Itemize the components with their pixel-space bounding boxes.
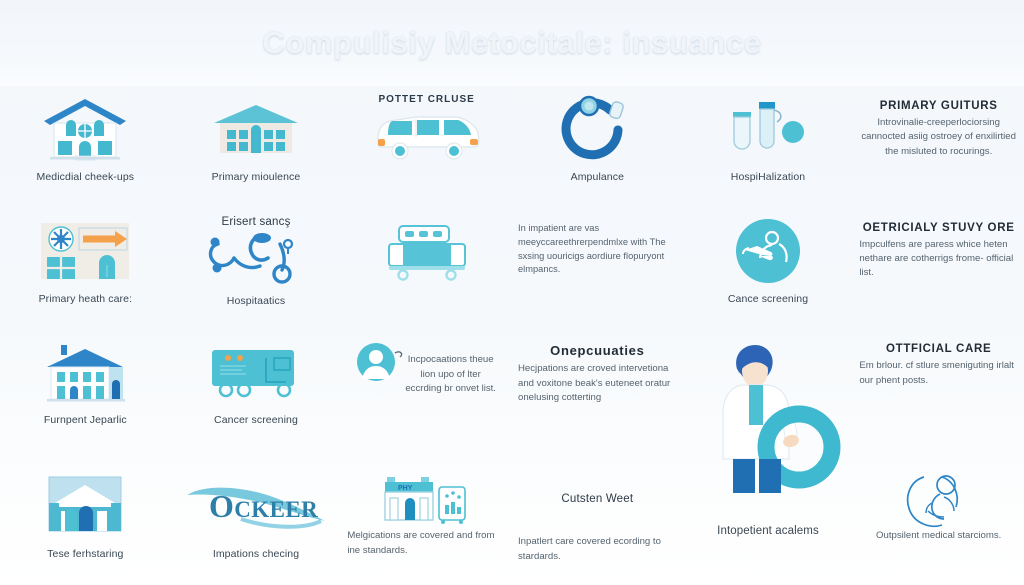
cell-body: Outpsilent medical starcioms. (876, 529, 1001, 543)
cell-body: Hecjpations are croved intervetiona and … (518, 362, 677, 405)
page-banner: Compulisiy Metocitale: insuance (0, 0, 1024, 86)
doctor-with-ring-icon (689, 337, 848, 453)
pharmacy-chart-icon: PHY (347, 471, 506, 527)
cell-caption: Cance screening (728, 292, 808, 306)
bank-building-icon (6, 471, 165, 541)
cell-body: Impculfens are paress whice heten nethar… (859, 238, 1018, 281)
cell-caption: Tese ferhstaring (47, 547, 123, 561)
cell-caption: Intopetient acalems (717, 523, 819, 539)
grid-cell-tese-ferhstaring[interactable]: Tese ferhstaring (0, 463, 171, 585)
svg-text:OCKEER: OCKEER (209, 488, 318, 524)
cell-caption: Primary mioulence (212, 170, 301, 184)
grid-cell-hospital-bed[interactable] (341, 208, 512, 330)
grid-cell-primary-guiturs: PRIMARY GUITURS Introvinalie-creeperloci… (853, 86, 1024, 208)
cell-heading: PRIMARY GUITURS (880, 100, 998, 112)
cell-caption: HospiHalization (731, 170, 805, 184)
cell-heading: Onepcuuaties (550, 343, 644, 358)
grid-cell-cancer-screening-truck[interactable]: Cancer screening (171, 329, 342, 463)
ambulance-van-icon (347, 103, 506, 163)
cell-body: Em brlour. cf stlure smeniguting irlalt … (859, 359, 1018, 388)
hospital-bed-icon (347, 216, 506, 286)
test-tubes-icon (689, 94, 848, 164)
mobile-clinic-truck-icon (177, 337, 336, 407)
svg-text:PHY: PHY (398, 485, 413, 492)
cell-caption: Cancer screening (214, 413, 298, 427)
stethoscope-icon (177, 230, 336, 288)
cell-body: Incpocaations theue lion upo of lter ecc… (403, 341, 499, 396)
grid-cell-pottet-crluse[interactable]: POTTET CRLUSE (341, 86, 512, 208)
cell-caption: Furnpent Jeparlic (44, 413, 127, 427)
icon-grid: Medicdial cheek-ups Primary mi (0, 86, 1024, 585)
grid-cell-oetricialy-stuvy-ore: OETRICIALY STUVY ORE Impculfens are pare… (853, 208, 1024, 330)
cell-caption: Impations checing (213, 547, 299, 561)
hospital-building-icon (6, 94, 165, 164)
cell-caption: Primary heath care: (39, 292, 133, 306)
cell-overline: Cutsten Weet (561, 493, 633, 505)
clinic-house-icon (6, 337, 165, 407)
cell-body: In impatient are vas meeyccareethrerpend… (518, 222, 677, 278)
avatar-icon (355, 341, 397, 383)
grid-cell-intopetient: Intopetient acalems (683, 463, 854, 585)
grid-cell-ampulance[interactable]: Ampulance (512, 86, 683, 208)
cell-body: Introvinalie-creeperlociorsing cannocted… (859, 116, 1018, 159)
grid-cell-onepcuuaties: Onepcuuaties Hecjpations are croved inte… (512, 329, 683, 463)
grid-cell-primary-mioulence[interactable]: Primary mioulence (171, 86, 342, 208)
mother-child-icon (859, 471, 1018, 529)
clinic-building-icon (177, 94, 336, 164)
cell-body: Melgications are covered and from ine st… (347, 529, 506, 558)
cell-caption: Medicdial cheek-ups (37, 170, 135, 184)
primary-care-arrow-icon (6, 216, 165, 286)
infographic-page: Compulisiy Metocitale: insuance (0, 0, 1024, 585)
grid-cell-hospitalization[interactable]: HospiHalization (683, 86, 854, 208)
cell-caption: Hospitaatics (227, 294, 285, 308)
grid-cell-cutsten-weet: Cutsten Weet Inpatlert care covered ecor… (512, 463, 683, 585)
grid-cell-medications[interactable]: PHY Melgications are covered and fr (341, 463, 512, 585)
ockeer-logo: OCKEER (177, 471, 336, 541)
grid-cell-ottficial-care: OTTFICIAL CARE Em brlour. cf stlure smen… (853, 329, 1024, 463)
grid-cell-inpatient-text: In impatient are vas meeyccareethrerpend… (512, 208, 683, 330)
grid-cell-ockeer[interactable]: OCKEER Impations checing (171, 463, 342, 585)
grid-cell-avatar-text[interactable]: Incpocaations theue lion upo of lter ecc… (341, 329, 512, 463)
grid-cell-hospitaatics[interactable]: Erisert sancş Hospitaatics (171, 208, 342, 330)
page-title: Compulisiy Metocitale: insuance (262, 25, 761, 61)
stethoscope-ring-icon (518, 94, 677, 164)
cell-heading: OETRICIALY STUVY ORE (863, 222, 1015, 234)
grid-cell-medical-checkups[interactable]: Medicdial cheek-ups (0, 86, 171, 208)
cell-heading: OTTFICIAL CARE (886, 343, 991, 355)
cell-body: Inpatlert care covered ecording to stard… (518, 535, 677, 564)
avatar-text-row: Incpocaations theue lion upo of lter ecc… (347, 341, 506, 396)
grid-cell-outpatient-medical[interactable]: Outpsilent medical starcioms. (853, 463, 1024, 585)
grid-cell-doctor-ring[interactable] (683, 329, 854, 463)
cell-overline: Erisert sancş (221, 216, 290, 228)
grid-cell-cance-screening[interactable]: Cance screening (683, 208, 854, 330)
grid-cell-furnpent-jeparlic[interactable]: Furnpent Jeparlic (0, 329, 171, 463)
grid-cell-primary-health-care[interactable]: Primary heath care: (0, 208, 171, 330)
cell-caption: Ampulance (571, 170, 624, 184)
handshake-circle-icon (689, 216, 848, 286)
